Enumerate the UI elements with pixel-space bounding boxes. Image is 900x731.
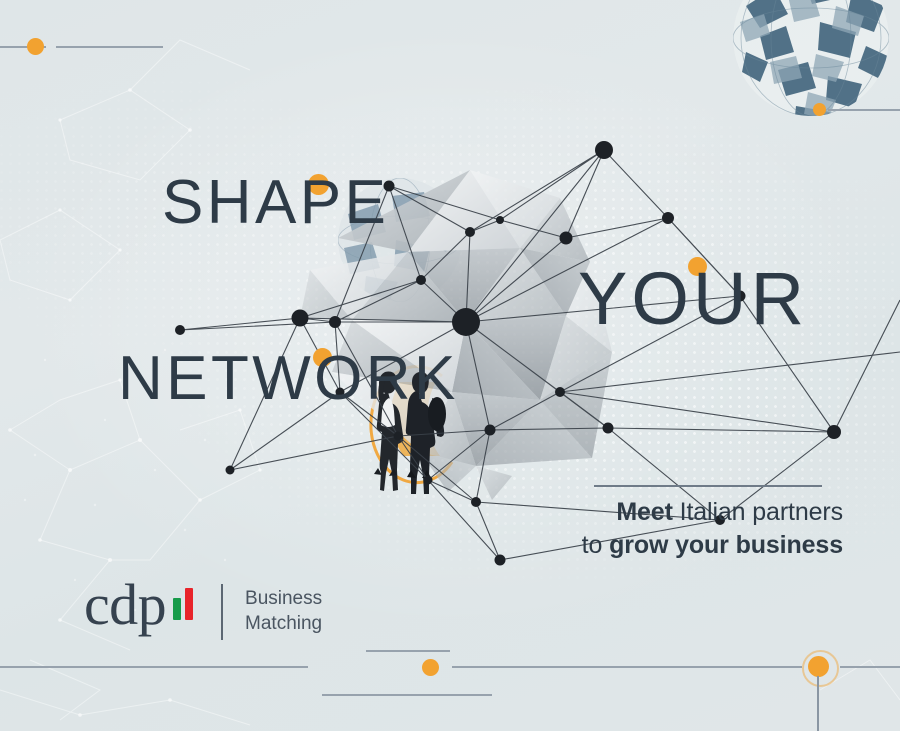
tagline-line-2: to grow your business: [553, 529, 843, 562]
tagline-to: to: [582, 531, 609, 559]
logo-subtitle-line-1: Business: [245, 586, 322, 611]
decor-dot-bottom-center: [422, 659, 439, 676]
tagline-grow-your-business: grow your business: [609, 531, 843, 559]
logo-subtitle-line-2: Matching: [245, 611, 322, 636]
decor-dot-top-right: [813, 103, 826, 116]
decor-rule-bottom-upper: [366, 650, 450, 652]
flag-bar-red: [185, 588, 193, 620]
tagline-italian-partners: Italian partners: [680, 498, 843, 526]
decor-rule-bottom-lower: [322, 694, 492, 696]
decor-rule-bottom-right: [452, 666, 802, 668]
decor-rule-bottom-left: [0, 666, 308, 668]
tagline-meet: Meet: [616, 498, 672, 526]
decor-dot-bottom-right: [808, 656, 829, 677]
headline-word-shape: SHAPE: [162, 172, 389, 234]
tagline-line-1: Meet Italian partners: [553, 496, 843, 529]
decor-dot-top-left: [27, 38, 44, 55]
tagline: Meet Italian partners to grow your busin…: [553, 496, 843, 562]
headline-word-network: NETWORK: [118, 348, 459, 410]
cdp-business-matching-logo: cdp Business Matching: [84, 578, 322, 640]
cdp-wordmark: cdp: [84, 578, 166, 631]
headline-word-your: YOUR: [578, 262, 808, 336]
flag-bar-green: [173, 598, 181, 620]
logo-subtitle: Business Matching: [245, 586, 322, 636]
italian-flag-icon: [173, 586, 193, 620]
logo-divider: [221, 584, 223, 640]
decor-rule-top-left-long: [56, 46, 163, 48]
poster-canvas: SHAPE YOUR NETWORK Meet Italian partners…: [0, 0, 900, 731]
decor-rule-bottom-far-right: [840, 666, 900, 668]
tagline-divider-rule: [594, 485, 822, 487]
decor-rule-top-right: [828, 109, 900, 111]
decor-vertical-rule-bottom-right: [817, 676, 819, 731]
